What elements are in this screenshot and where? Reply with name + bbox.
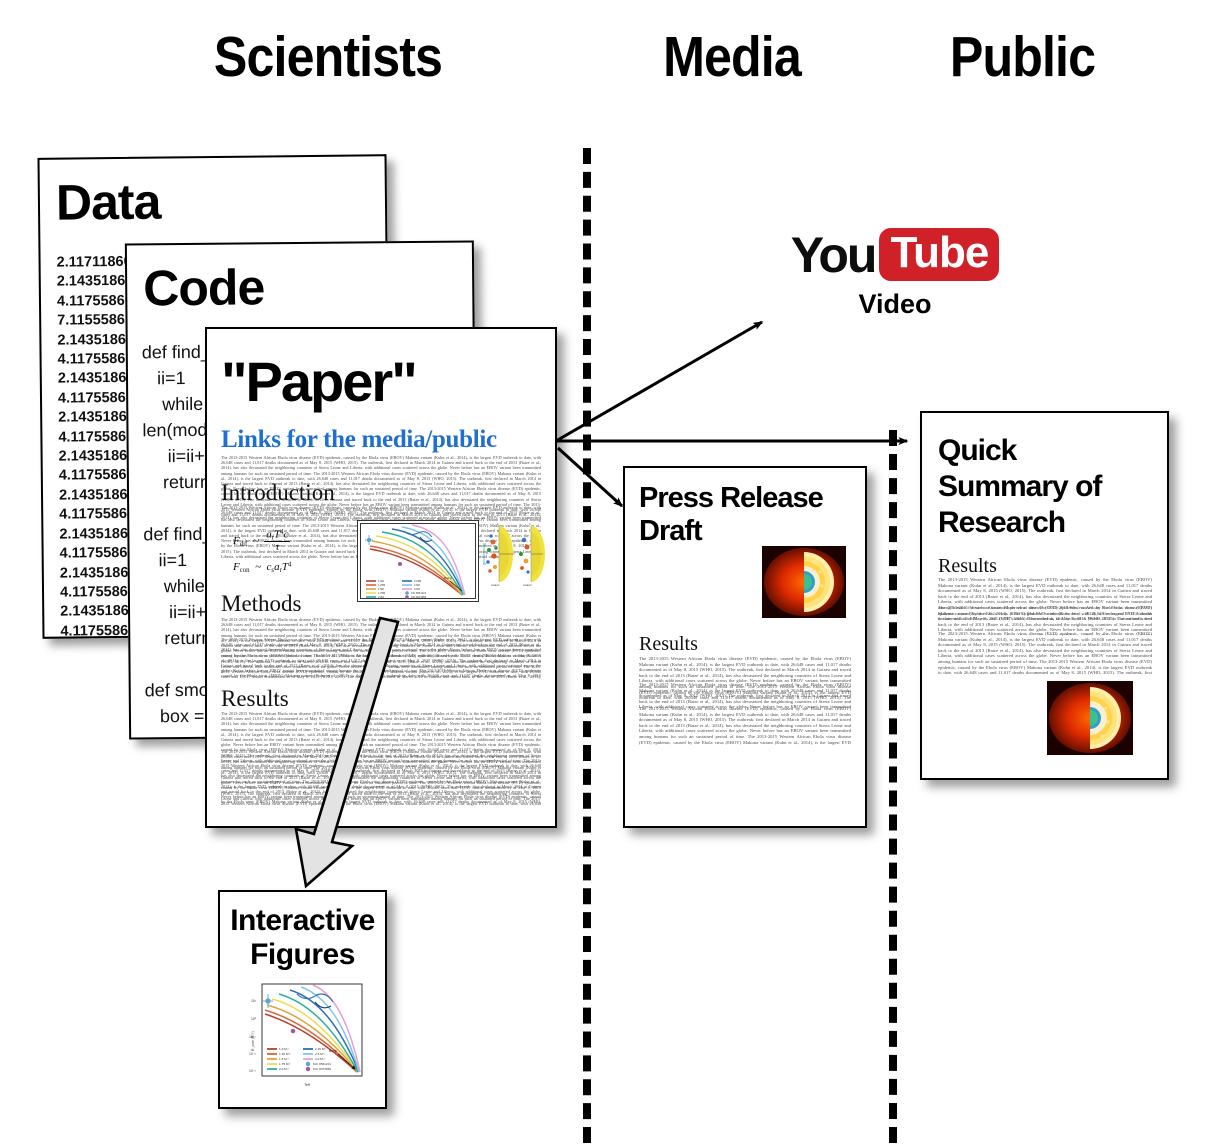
data-value-row: 2.14351860 (60, 602, 137, 622)
document-paper-methods-text-2: The 2013-2015 Western African Ebola viru… (221, 637, 541, 679)
youtube-tube-text: Tube (890, 230, 988, 276)
svg-text:2.5M: 2.5M (414, 583, 420, 587)
column-header-scientists: Scientists (205, 24, 451, 90)
scientists-media-divider (583, 148, 591, 1143)
document-paper-subtitle: Links for the media/public (221, 427, 541, 452)
data-value-row: 2.14351860 (59, 486, 136, 506)
svg-text:1.5M: 1.5M (378, 587, 384, 591)
column-header-media: Media (657, 24, 807, 90)
svg-text:1.0 M☉: 1.0 M☉ (279, 1047, 290, 1051)
data-value-row: 2.14351860 (58, 369, 135, 389)
youtube-red-pill: Tube (879, 228, 999, 281)
document-interactive-figures[interactable]: Interactive Figures 10¹10⁰ 10⁻¹10⁻²10⁻³ … (218, 890, 387, 1109)
interactive-figures-title-line2: Figures (220, 938, 385, 972)
document-paper-section-introduction: Introduction (221, 481, 335, 504)
document-paper-section-methods: Methods (221, 592, 302, 615)
document-paper-equations: Fdif ~ arT4cτ Fcon ~ csarT4 (233, 529, 363, 574)
document-press-release-title: Press Release Draft (639, 482, 854, 548)
data-value-row: 2.14351860 (57, 272, 134, 292)
data-value-row: 4.11755860 (58, 350, 135, 370)
document-paper-results-text-2: The 2013-2015 Western African Ebola viru… (221, 749, 541, 807)
document-press-release-body-2: The 2013-2015 Western African Ebola viru… (639, 682, 851, 708)
youtube-logo[interactable]: You Tube (795, 228, 995, 281)
data-value-row: 4.11755860 (60, 583, 137, 603)
svg-text:2.25M: 2.25M (414, 579, 421, 583)
svg-text:10⁻²: 10⁻² (249, 1052, 257, 1056)
svg-text:2.25 M☉: 2.25 M☉ (315, 1047, 327, 1051)
svg-text:10⁻³: 10⁻³ (249, 1069, 257, 1073)
svg-text:2.0 M☉: 2.0 M☉ (279, 1067, 290, 1071)
svg-text:10¹: 10¹ (251, 999, 257, 1003)
document-code-title: Code (143, 262, 264, 314)
data-value-row: 4.11755860 (60, 544, 137, 564)
svg-text:KIC 8561221: KIC 8561221 (411, 591, 427, 595)
svg-text:model-1: model-1 (491, 584, 500, 587)
svg-text:3.0 M☉: 3.0 M☉ (315, 1057, 326, 1061)
svg-text:2.5 M☉: 2.5 M☉ (315, 1052, 326, 1056)
press-release-stellar-image (762, 546, 846, 618)
document-data-title: Data (56, 177, 161, 229)
youtube-video-block[interactable]: You Tube Video (795, 228, 995, 320)
svg-text:Teff: Teff (304, 1083, 310, 1087)
svg-text:10⁰: 10⁰ (251, 1017, 257, 1021)
svg-text:model-2: model-2 (523, 584, 532, 587)
document-paper-intro-text: The 2013-2015 Western African Ebola viru… (221, 505, 541, 521)
data-value-row: 4.11755860 (58, 389, 135, 409)
svg-text:1.75 M☉: 1.75 M☉ (279, 1062, 291, 1066)
youtube-you-text: You (791, 230, 876, 280)
svg-text:a: a (497, 523, 499, 526)
svg-text:1.75M: 1.75M (378, 591, 385, 595)
interactive-figures-title-line1: Interactive (220, 904, 385, 938)
quick-summary-stellar-image (1047, 681, 1133, 755)
data-value-row: 7.11555860 (57, 311, 134, 331)
document-paper-section-results: Results (221, 687, 289, 710)
document-paper-figure-tracks: Bump 1.0M1 (357, 520, 479, 602)
svg-text:KIC 9073950: KIC 9073950 (313, 1067, 331, 1071)
svg-text:3.0M: 3.0M (414, 587, 420, 591)
document-paper-figure-hemispheres: model-1model-2 ab (483, 522, 547, 588)
document-paper[interactable]: "Paper" Links for the media/public The 2… (205, 327, 557, 828)
document-quick-summary[interactable]: Quick Summary of Research Results The 20… (920, 411, 1169, 780)
data-value-row: 2.14351860 (60, 563, 137, 583)
column-header-public: Public (941, 24, 1104, 90)
data-value-row: 2.14351860 (58, 408, 135, 428)
svg-text:Bump: Bump (329, 1049, 338, 1053)
document-paper-title: "Paper" (221, 353, 416, 410)
svg-text:2.0M: 2.0M (378, 595, 384, 599)
document-press-release-section-results: Results (639, 634, 698, 654)
document-quick-summary-body-3: The 2013-2015 Western African Ebola viru… (938, 631, 1152, 677)
svg-text:1.25M: 1.25M (378, 583, 385, 587)
interactive-figures-chart[interactable]: 10¹10⁰ 10⁻¹10⁻²10⁻³ R_core (R☉) Teff (245, 980, 368, 1090)
youtube-video-caption: Video (795, 289, 995, 320)
data-value-row: 2.14351860 (59, 447, 136, 467)
svg-text:1.0M: 1.0M (378, 579, 384, 583)
svg-text:R_core (R☉): R_core (R☉) (251, 1031, 255, 1051)
data-value-row: 4.11755860 (57, 292, 134, 312)
media-public-divider (889, 430, 897, 1143)
data-value-row: 4.11755860 (58, 427, 135, 447)
diagram-canvas: Scientists Media Public Data 2.117118602… (0, 0, 1206, 1147)
svg-text:KIC 8561221: KIC 8561221 (313, 1062, 331, 1066)
svg-text:1.25 M☉: 1.25 M☉ (279, 1052, 291, 1056)
data-value-row: 2.11711860 (56, 253, 133, 273)
document-press-release-body-3: The 2013-2015 Western African Ebola viru… (639, 706, 851, 746)
document-press-release[interactable]: Press Release Draft (623, 466, 867, 828)
svg-text:KIC 9073950: KIC 9073950 (411, 595, 427, 599)
data-value-row: 2.14351860 (57, 330, 134, 350)
svg-text:Bump: Bump (444, 576, 452, 580)
data-value-row: 4.11755860 (59, 505, 136, 525)
document-quick-summary-section-results: Results (938, 556, 997, 576)
document-quick-summary-title: Quick Summary of Research (938, 433, 1153, 541)
svg-text:b: b (529, 523, 531, 526)
data-value-row: 4.11755860 (59, 466, 136, 486)
data-value-row: 2.14351860 (59, 525, 136, 545)
data-value-row: 4.11755860 (60, 622, 137, 639)
svg-text:1.5 M☉: 1.5 M☉ (279, 1057, 290, 1061)
